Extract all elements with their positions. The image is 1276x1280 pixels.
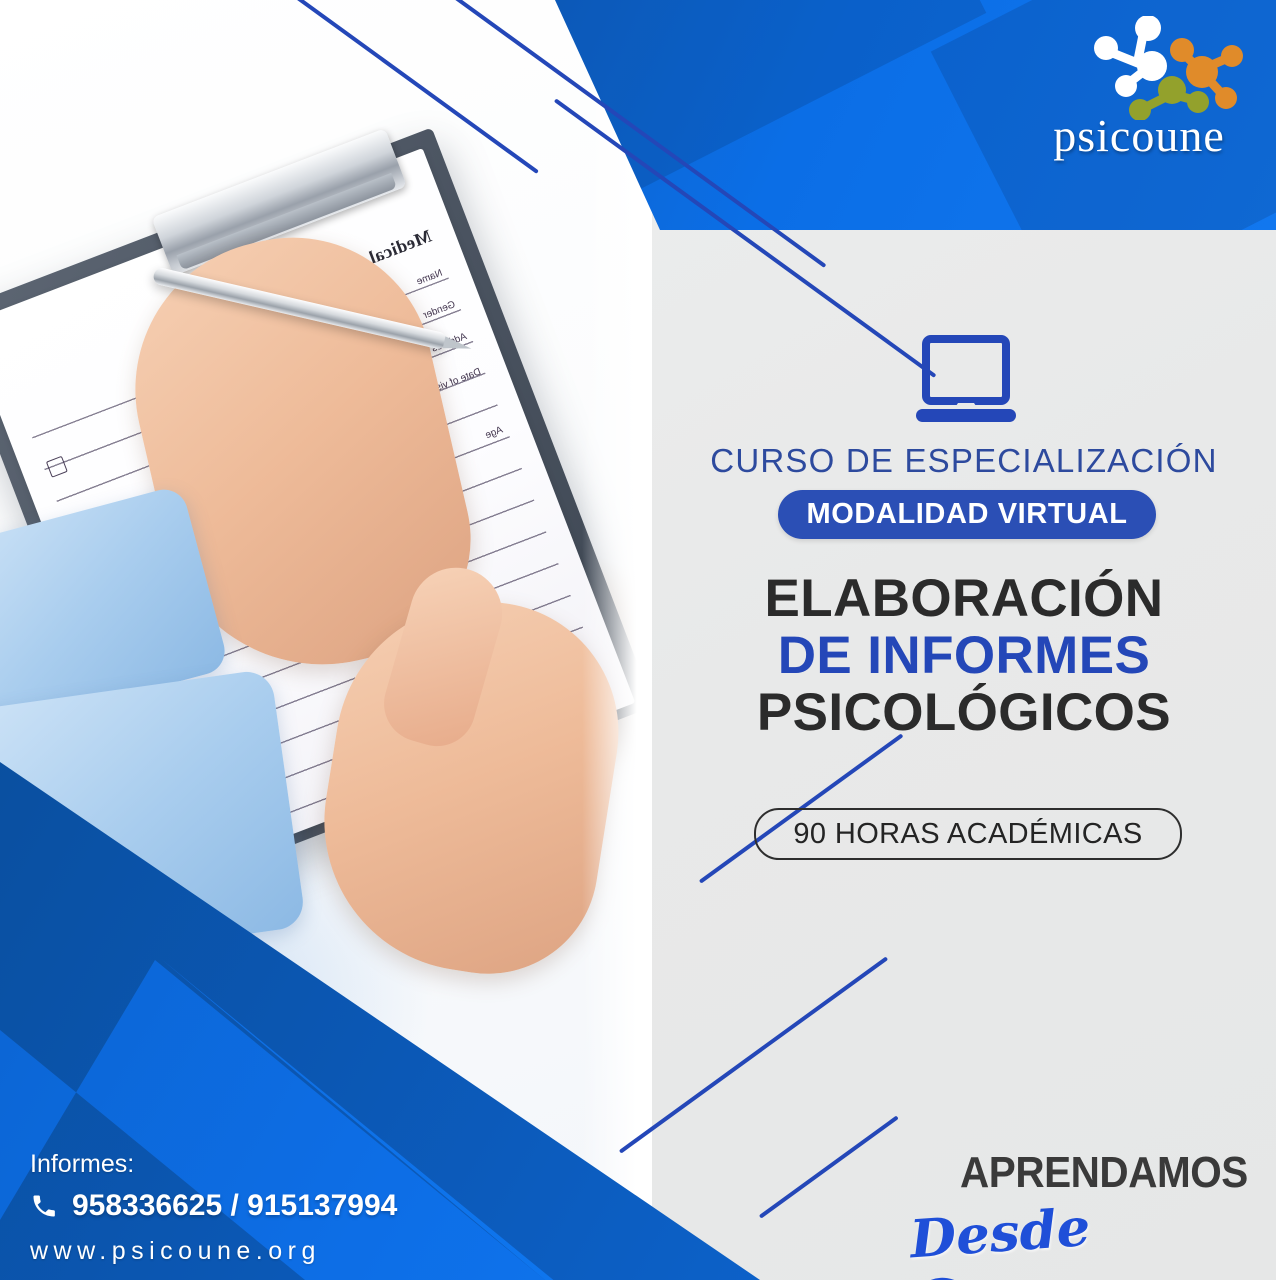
contact-label: Informes: <box>30 1150 450 1179</box>
contact-phone[interactable]: 958336625 / 915137994 <box>30 1189 450 1223</box>
slogan-block: APRENDAMOS Desde Casa <box>918 1142 1248 1252</box>
course-title: ELABORACIÓN DE INFORMES PSICOLÓGICOS <box>652 570 1276 742</box>
modality-badge: MODALIDAD VIRTUAL <box>778 490 1156 539</box>
hours-badge-label: 90 HORAS ACADÉMICAS <box>793 818 1142 851</box>
title-line-1: ELABORACIÓN <box>652 570 1276 627</box>
title-line-3: PSICOLÓGICOS <box>652 684 1276 741</box>
contact-website[interactable]: www.psicoune.org <box>30 1237 450 1266</box>
phone-handset-icon <box>30 1192 58 1220</box>
slogan-line-2: Desde Casa <box>908 1186 1250 1280</box>
laptop-icon <box>914 333 1018 429</box>
contact-block: Informes: 958336625 / 915137994 www.psic… <box>30 1150 450 1266</box>
photo-edge-fade <box>582 0 652 1280</box>
contact-phone-numbers: 958336625 / 915137994 <box>72 1189 397 1223</box>
promo-poster: Medical card Name Gender Address Date of… <box>0 0 1276 1280</box>
hours-badge: 90 HORAS ACADÉMICAS <box>754 808 1182 860</box>
course-kicker: CURSO DE ESPECIALIZACIÓN <box>652 442 1276 480</box>
title-line-2: DE INFORMES <box>652 627 1276 684</box>
main-content: CURSO DE ESPECIALIZACIÓN MODALIDAD VIRTU… <box>652 0 1276 1280</box>
modality-badge-label: MODALIDAD VIRTUAL <box>806 498 1127 531</box>
